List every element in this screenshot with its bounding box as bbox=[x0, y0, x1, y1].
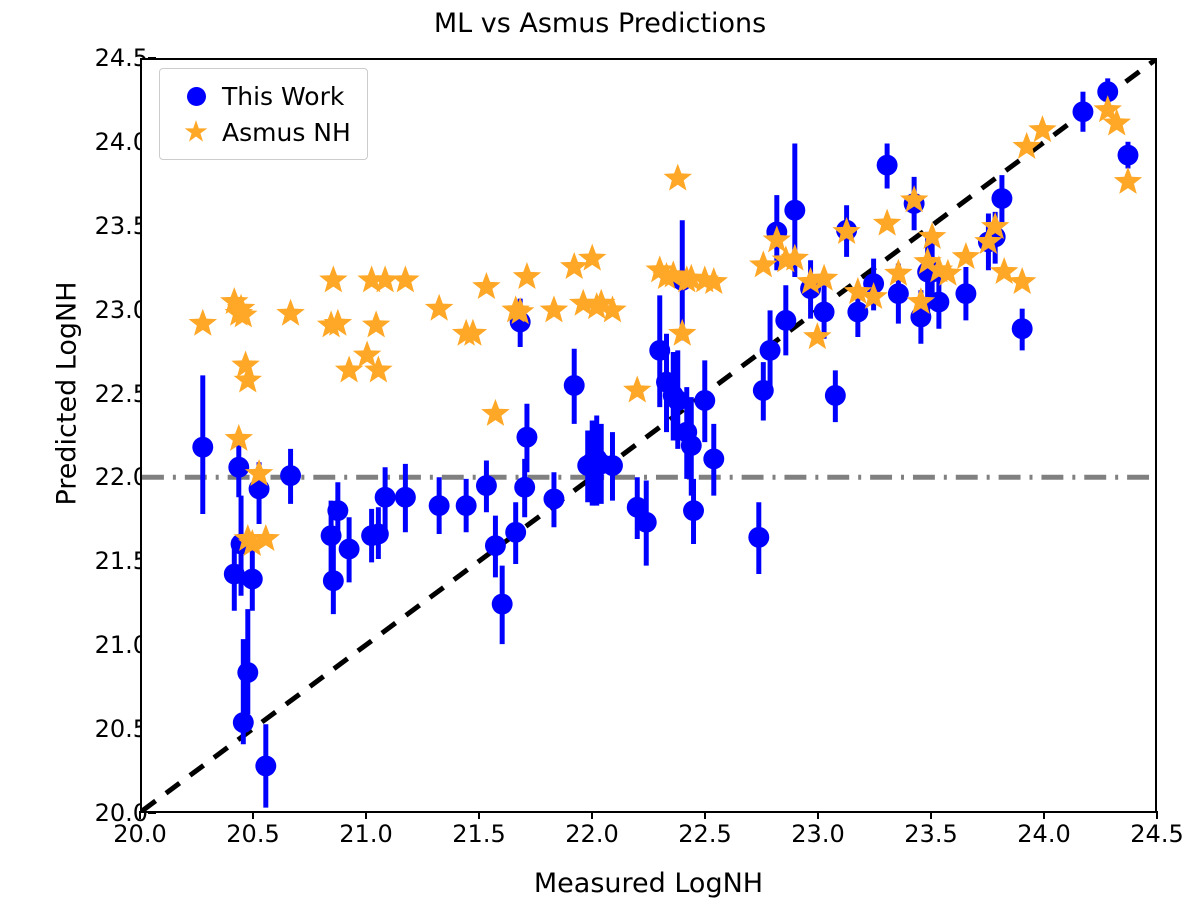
data-point[interactable] bbox=[748, 527, 769, 548]
data-point[interactable] bbox=[368, 524, 389, 545]
y-tick-label: 22.0 bbox=[58, 463, 148, 491]
data-point[interactable] bbox=[513, 262, 541, 289]
legend-item-asmus-nh[interactable]: Asmus NH bbox=[170, 114, 351, 150]
data-point[interactable] bbox=[683, 500, 704, 521]
series-this-work bbox=[192, 78, 1138, 807]
data-point[interactable] bbox=[540, 295, 568, 322]
data-point[interactable] bbox=[564, 375, 585, 396]
x-tick-label: 24.0 bbox=[989, 820, 1099, 848]
data-point[interactable] bbox=[319, 265, 347, 292]
data-point[interactable] bbox=[955, 283, 976, 304]
data-point[interactable] bbox=[784, 200, 805, 221]
circle-marker-icon bbox=[170, 87, 222, 106]
data-point[interactable] bbox=[543, 488, 564, 509]
data-point[interactable] bbox=[476, 475, 497, 496]
x-tick-label: 20.0 bbox=[85, 820, 195, 848]
data-point[interactable] bbox=[472, 272, 500, 299]
data-point[interactable] bbox=[335, 355, 363, 382]
data-point[interactable] bbox=[321, 525, 342, 546]
data-point[interactable] bbox=[602, 455, 623, 476]
data-point[interactable] bbox=[877, 155, 898, 176]
x-tick-label: 20.5 bbox=[198, 820, 308, 848]
data-point[interactable] bbox=[391, 265, 419, 292]
data-point[interactable] bbox=[429, 495, 450, 516]
legend-label-this-work: This Work bbox=[222, 82, 344, 111]
data-point[interactable] bbox=[339, 539, 360, 560]
data-point[interactable] bbox=[681, 435, 702, 456]
data-point[interactable] bbox=[242, 569, 263, 590]
data-point[interactable] bbox=[375, 487, 396, 508]
chart-canvas bbox=[142, 60, 1155, 811]
data-point[interactable] bbox=[1028, 115, 1056, 142]
y-tick-label: 24.5 bbox=[58, 44, 148, 72]
x-tick-label: 21.5 bbox=[424, 820, 534, 848]
data-point[interactable] bbox=[991, 188, 1012, 209]
data-point[interactable] bbox=[425, 294, 453, 321]
data-point[interactable] bbox=[228, 457, 249, 478]
x-tick-label: 23.0 bbox=[763, 820, 873, 848]
data-point[interactable] bbox=[481, 399, 509, 426]
data-point[interactable] bbox=[276, 299, 304, 326]
x-tick-label: 22.5 bbox=[650, 820, 760, 848]
y-tick-label: 22.5 bbox=[58, 380, 148, 408]
data-point[interactable] bbox=[492, 594, 513, 615]
data-point[interactable] bbox=[753, 380, 774, 401]
data-point[interactable] bbox=[255, 755, 276, 776]
data-point[interactable] bbox=[888, 283, 909, 304]
y-tick-label: 21.0 bbox=[58, 631, 148, 659]
y-tick-label: 23.0 bbox=[58, 296, 148, 324]
data-point[interactable] bbox=[485, 535, 506, 556]
y-tick-label: 21.5 bbox=[58, 547, 148, 575]
identity-line bbox=[142, 60, 1155, 811]
x-tick-label: 23.5 bbox=[876, 820, 986, 848]
data-point[interactable] bbox=[1118, 145, 1139, 166]
data-point[interactable] bbox=[694, 390, 715, 411]
data-point[interactable] bbox=[456, 495, 477, 516]
data-point[interactable] bbox=[668, 319, 696, 346]
data-point[interactable] bbox=[847, 302, 868, 323]
data-point[interactable] bbox=[649, 340, 670, 361]
data-point[interactable] bbox=[664, 164, 692, 191]
chart-legend: This Work Asmus NH bbox=[159, 68, 368, 160]
data-point[interactable] bbox=[280, 465, 301, 486]
figure: ML vs Asmus Predictions Predicted LogNH … bbox=[0, 0, 1200, 917]
data-point[interactable] bbox=[703, 448, 724, 469]
y-tick-label: 23.5 bbox=[58, 212, 148, 240]
data-point[interactable] bbox=[814, 302, 835, 323]
data-point[interactable] bbox=[667, 390, 688, 411]
data-point[interactable] bbox=[1073, 101, 1094, 122]
legend-label-asmus-nh: Asmus NH bbox=[222, 118, 351, 147]
data-point[interactable] bbox=[1012, 318, 1033, 339]
page-title: ML vs Asmus Predictions bbox=[0, 8, 1200, 39]
x-tick-label: 24.5 bbox=[1102, 820, 1200, 848]
data-point[interactable] bbox=[505, 522, 526, 543]
data-point[interactable] bbox=[514, 477, 535, 498]
series-asmus-nh bbox=[189, 95, 1143, 556]
x-tick-label: 21.0 bbox=[311, 820, 421, 848]
data-point[interactable] bbox=[362, 310, 390, 337]
data-point[interactable] bbox=[237, 662, 258, 683]
y-tick-label: 24.0 bbox=[58, 128, 148, 156]
data-point[interactable] bbox=[234, 366, 262, 393]
data-point[interactable] bbox=[873, 209, 901, 236]
data-point[interactable] bbox=[327, 500, 348, 521]
data-point[interactable] bbox=[749, 250, 777, 277]
y-tick-label: 20.5 bbox=[58, 715, 148, 743]
legend-item-this-work[interactable]: This Work bbox=[170, 78, 351, 114]
data-point[interactable] bbox=[760, 340, 781, 361]
x-axis-label: Measured LogNH bbox=[140, 868, 1157, 899]
data-point[interactable] bbox=[952, 242, 980, 269]
data-point[interactable] bbox=[233, 712, 254, 733]
data-point[interactable] bbox=[928, 292, 949, 313]
data-point[interactable] bbox=[189, 309, 217, 336]
data-point[interactable] bbox=[395, 487, 416, 508]
data-point[interactable] bbox=[636, 512, 657, 533]
data-point[interactable] bbox=[192, 437, 213, 458]
data-point[interactable] bbox=[516, 427, 537, 448]
x-tick-label: 22.0 bbox=[537, 820, 647, 848]
plot-area bbox=[140, 58, 1157, 813]
data-point[interactable] bbox=[224, 564, 245, 585]
star-marker-icon bbox=[170, 119, 222, 145]
data-point[interactable] bbox=[1114, 167, 1142, 194]
data-point[interactable] bbox=[775, 310, 796, 331]
data-point[interactable] bbox=[323, 570, 344, 591]
data-point[interactable] bbox=[825, 385, 846, 406]
data-point[interactable] bbox=[623, 376, 651, 403]
data-point[interactable] bbox=[803, 322, 831, 349]
